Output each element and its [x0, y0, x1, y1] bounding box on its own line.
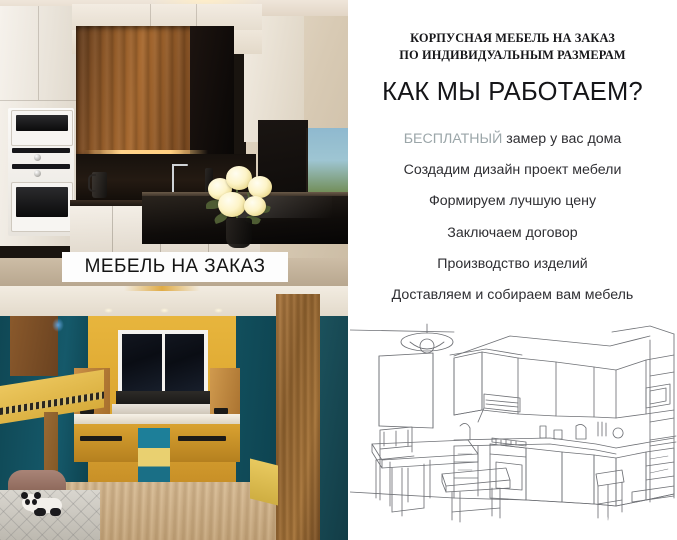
corner-upper-top — [616, 355, 674, 370]
upper-cabinet-left-side — [454, 352, 482, 415]
wood-grain — [276, 294, 320, 540]
mebel-na-zakaz-banner: МЕБЕЛЬ НА ЗАКАЗ — [62, 252, 288, 282]
step-text: замер у вас дома — [502, 131, 621, 147]
avito-dot — [566, 524, 575, 533]
drawer-handle — [650, 456, 668, 459]
kicker-line-2: ПО ИНДИВИДУАЛЬНЫМ РАЗМЕРАМ — [348, 47, 677, 64]
oven-knob — [34, 154, 41, 161]
flower-vase — [226, 218, 252, 248]
bench-stretcher — [452, 508, 500, 512]
hood-slats — [486, 400, 518, 403]
list-item: Создадим дизайн проект мебели — [348, 162, 677, 178]
info-panel: КОРПУСНАЯ МЕБЕЛЬ НА ЗАКАЗ ПО ИНДИВИДУАЛЬ… — [348, 0, 677, 540]
panda-plush-toy — [22, 492, 66, 516]
wall-oven — [11, 182, 73, 232]
upper-cabinets-top — [518, 358, 616, 370]
base-cabinet — [562, 452, 594, 504]
niche-shadow — [190, 26, 234, 154]
ceiling-line — [350, 330, 454, 332]
oven-control-panel — [490, 454, 526, 457]
panda-eye — [25, 499, 30, 505]
hood-slats — [486, 404, 518, 407]
pendant-lamp-shade — [401, 333, 453, 351]
list-item: Доставляем и собираем вам мебель — [348, 287, 677, 303]
upper-cabinets-bottom — [518, 414, 616, 418]
ceiling-edge — [454, 336, 650, 356]
oven-glass — [16, 187, 68, 217]
shelf-line — [650, 418, 674, 422]
cabinet-seam — [38, 6, 39, 100]
table-foot — [392, 508, 424, 512]
range-oven — [490, 444, 526, 500]
kettle-handle — [88, 174, 96, 192]
upper-cabinet-left-front — [482, 352, 518, 414]
cabinet-seam — [0, 100, 78, 101]
shelf-line — [650, 372, 674, 376]
list-item: БЕСПЛАТНЫЙ замер у вас дома — [348, 131, 677, 147]
faucet-spout — [172, 164, 188, 166]
canister — [554, 430, 562, 439]
list-item: Производство изделий — [348, 256, 677, 272]
built-in-oven-stack — [8, 108, 74, 236]
oven-control-bar — [12, 148, 70, 153]
radiator — [116, 391, 210, 405]
table-top — [372, 440, 478, 460]
wood-wardrobe — [276, 294, 320, 540]
panda-ear — [21, 492, 28, 499]
avito-dot — [564, 509, 576, 521]
wall-panel — [379, 353, 433, 428]
page-title: КАК МЫ РАБОТАЕМ? — [348, 78, 677, 107]
cabinet-top-trim — [450, 349, 522, 355]
steps-list: БЕСПЛАТНЫЙ замер у вас дома Создадим диз… — [348, 131, 677, 303]
bunk-bed — [0, 386, 104, 540]
ceiling-spotlight — [160, 308, 169, 313]
oven-glass — [16, 115, 68, 131]
drawer-handle — [650, 469, 668, 473]
list-item: Формируем лучшую цену — [348, 193, 677, 209]
shelf-line — [650, 442, 676, 446]
kids-room-photo — [0, 286, 348, 540]
stool-seat — [596, 470, 624, 486]
modern-kitchen-photo — [0, 0, 348, 286]
ceiling-spotlight — [104, 308, 113, 313]
flower-bloom — [218, 192, 246, 217]
oven-control-bar — [12, 164, 70, 169]
flower-bloom — [248, 176, 272, 198]
desk-chair — [138, 428, 170, 490]
list-item: Заключаем договор — [348, 225, 677, 241]
avito-wordmark: Avito — [597, 510, 649, 533]
photo-column: МЕБЕЛЬ НА ЗАКАЗ — [0, 0, 348, 540]
listing-image: МЕБЕЛЬ НА ЗАКАЗ КОРПУСНАЯ МЕБЕЛЬ НА ЗАКА… — [0, 0, 677, 540]
countertop-right — [616, 438, 674, 448]
cabinet-bottom — [454, 410, 482, 415]
ceiling-edge-right — [612, 326, 674, 334]
ceiling-light-strip — [124, 286, 200, 291]
base-cabinet — [526, 448, 562, 502]
panda-eye — [32, 499, 37, 505]
window-sill — [112, 404, 214, 414]
flower-bloom — [244, 196, 266, 216]
window-night-glow — [52, 318, 64, 332]
avito-watermark: Avito — [561, 504, 669, 534]
lamp-shade-lower — [410, 342, 444, 349]
microwave-oven — [11, 110, 73, 146]
banner-label: МЕБЕЛЬ НА ЗАКАЗ — [85, 256, 266, 278]
kettle-sketch — [576, 424, 586, 439]
avito-dot — [579, 507, 589, 517]
wall-clock — [613, 428, 623, 438]
base-cabinet-right — [616, 452, 646, 506]
free-highlight: БЕСПЛАТНЫЙ — [404, 131, 503, 147]
right-low-shelf — [632, 486, 674, 502]
kicker-line-1: КОРПУСНАЯ МЕБЕЛЬ НА ЗАКАЗ — [348, 30, 677, 47]
canister — [540, 426, 546, 438]
table-edge — [372, 444, 382, 468]
panda-ear — [34, 492, 41, 499]
avito-dot — [576, 518, 590, 532]
desk-drawer — [178, 436, 226, 441]
yellow-accent-panel — [250, 459, 278, 506]
faucet-sketch — [460, 423, 470, 440]
kicker-text: КОРПУСНАЯ МЕБЕЛЬ НА ЗАКАЗ ПО ИНДИВИДУАЛЬ… — [348, 30, 677, 64]
oven-knob — [34, 170, 41, 177]
bench-seat — [442, 468, 510, 486]
microwave-door — [650, 388, 666, 404]
panda-leg — [50, 508, 61, 516]
corner-upper-bottom — [616, 410, 674, 418]
ceiling-spotlight — [214, 308, 223, 313]
